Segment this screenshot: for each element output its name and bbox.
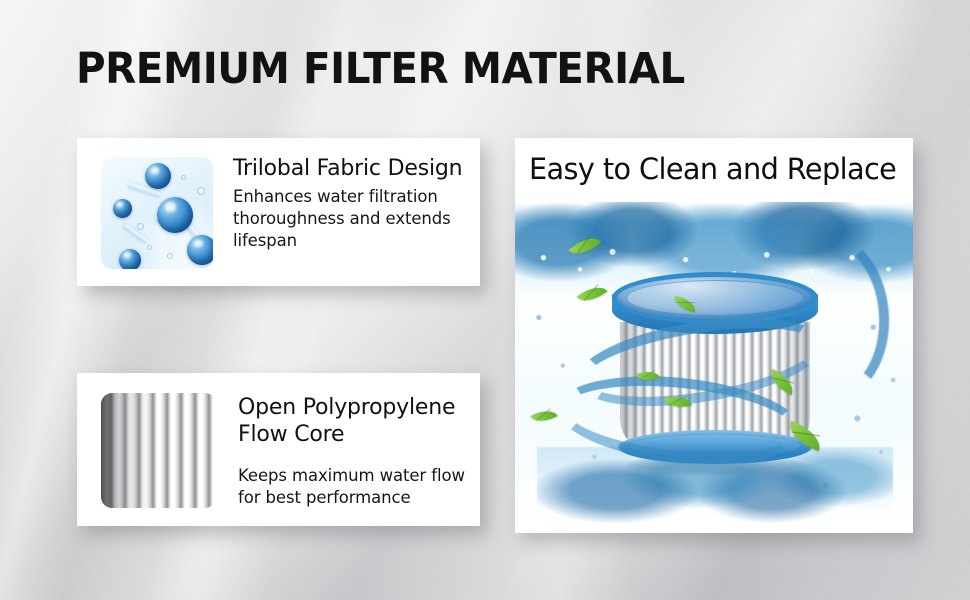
feature-body: Keeps maximum water flow for best perfor… bbox=[238, 465, 465, 509]
promo-banner: PREMIUM FILTER MATERIAL Trilobal bbox=[0, 0, 970, 600]
showcase-panel: Easy to Clean and Replace bbox=[515, 138, 913, 533]
product-photo bbox=[515, 196, 913, 533]
feature-card-open-polypropylene-flow-core: Open Polypropylene Flow Core Keeps maxim… bbox=[77, 373, 480, 526]
feature-card-trilobal-fabric-design: Trilobal Fabric Design Enhances water fi… bbox=[77, 138, 480, 286]
feature-heading: Trilobal Fabric Design bbox=[233, 156, 462, 183]
feature-body: Enhances water filtration thoroughness a… bbox=[233, 186, 462, 252]
molecule-art bbox=[101, 157, 213, 269]
pleated-core-icon bbox=[101, 393, 216, 508]
feature-heading: Open Polypropylene Flow Core bbox=[238, 395, 465, 449]
page-title: PREMIUM FILTER MATERIAL bbox=[76, 44, 685, 94]
molecule-icon bbox=[101, 157, 213, 269]
pleated-core-art bbox=[101, 393, 216, 508]
cartridge-bottom-band bbox=[618, 430, 812, 464]
feature-card-text: Open Polypropylene Flow Core Keeps maxim… bbox=[216, 373, 477, 509]
showcase-heading: Easy to Clean and Replace bbox=[529, 152, 909, 186]
feature-card-text: Trilobal Fabric Design Enhances water fi… bbox=[213, 138, 474, 252]
cartridge-cap-inner-ring bbox=[626, 280, 804, 316]
